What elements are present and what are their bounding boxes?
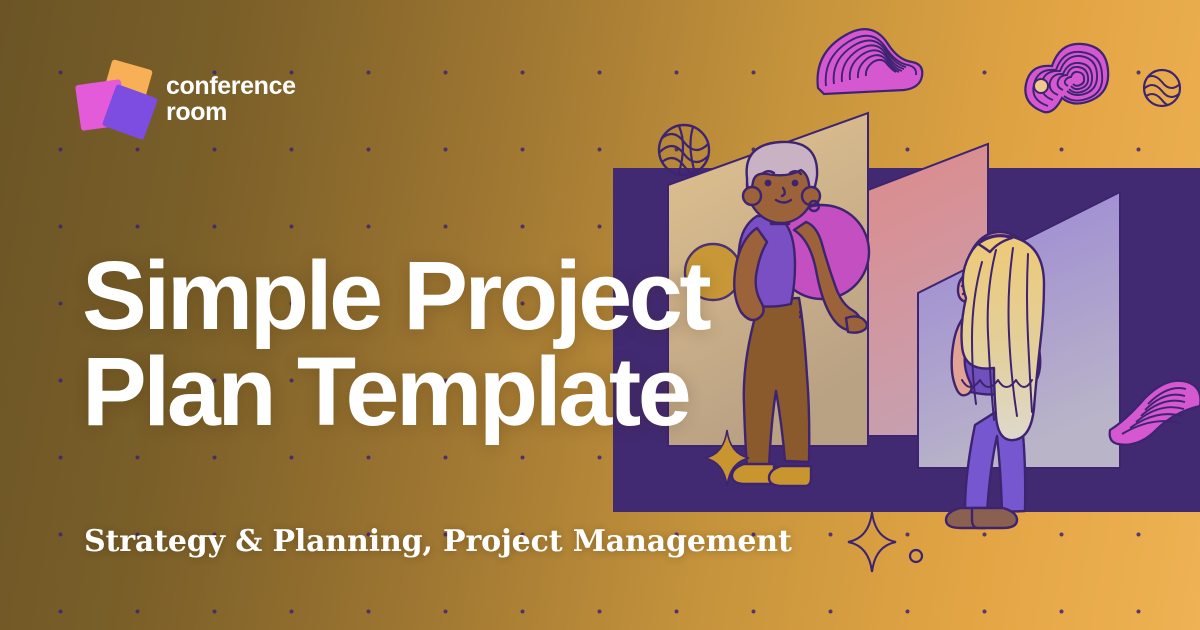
small-ring bbox=[910, 550, 922, 562]
brand-name-line2: room bbox=[166, 99, 296, 125]
page-title: Simple Project Plan Template bbox=[82, 248, 708, 440]
contour-blob-top-left bbox=[818, 29, 923, 94]
striped-sphere-small bbox=[1142, 70, 1182, 106]
brand-name-line1: conference bbox=[166, 73, 296, 99]
brand-logo[interactable]: conference room bbox=[78, 62, 296, 136]
page-subtitle: Strategy & Planning, Project Management bbox=[84, 524, 792, 559]
sparkle-right bbox=[848, 512, 896, 572]
logo-mark-icon bbox=[78, 62, 152, 136]
brand-name: conference room bbox=[166, 73, 296, 125]
banner: conference room Simple Project Plan Temp… bbox=[0, 0, 1200, 630]
contour-blob-top-right bbox=[1025, 44, 1108, 112]
